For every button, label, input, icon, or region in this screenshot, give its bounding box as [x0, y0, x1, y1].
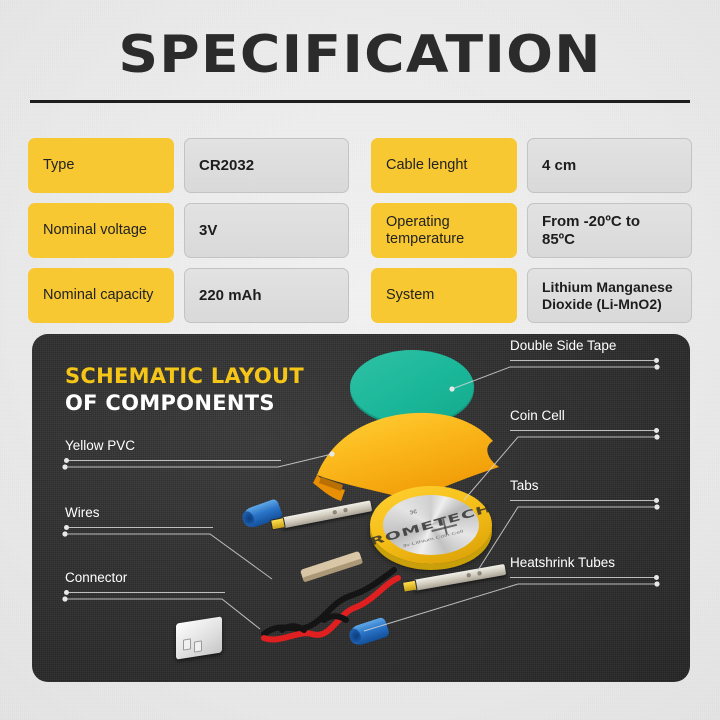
title-divider: [30, 100, 690, 103]
spec-column-right: Cable lenght 4 cm Operating temperature …: [371, 138, 692, 323]
specification-table: Type CR2032 Nominal voltage 3V Nominal c…: [28, 138, 692, 323]
spec-value-system: Lithium Manganese Dioxide (Li-MnO2): [527, 268, 692, 323]
callout-rule: [510, 577, 658, 578]
callout-rule: [65, 527, 213, 528]
page-title: SPECIFICATION: [0, 26, 720, 84]
spec-key-system: System: [371, 268, 517, 323]
spec-value-cable-length: 4 cm: [527, 138, 692, 193]
spec-key-operating-temperature: Operating temperature: [371, 203, 517, 258]
spec-value-nominal-capacity: 220 mAh: [184, 268, 349, 323]
spec-row-nominal-capacity: Nominal capacity 220 mAh: [28, 268, 349, 323]
callout-rule: [510, 500, 658, 501]
spec-row-operating-temperature: Operating temperature From -20ºC to 85ºC: [371, 203, 692, 258]
callout-heatshrink-tubes: Heatshrink Tubes: [510, 555, 658, 578]
spec-key-type: Type: [28, 138, 174, 193]
spec-value-type: CR2032: [184, 138, 349, 193]
leader-double-side-tape: [452, 367, 657, 389]
spec-row-nominal-voltage: Nominal voltage 3V: [28, 203, 349, 258]
callout-label: Tabs: [510, 478, 658, 494]
callout-rule: [65, 592, 225, 593]
callout-label: Wires: [65, 505, 213, 521]
spec-column-left: Type CR2032 Nominal voltage 3V Nominal c…: [28, 138, 349, 323]
callout-connector: Connector: [65, 570, 225, 593]
callout-label: Coin Cell: [510, 408, 658, 424]
callout-label: Connector: [65, 570, 225, 586]
spec-row-cable-length: Cable lenght 4 cm: [371, 138, 692, 193]
leader-connector: [65, 599, 260, 629]
callout-rule: [65, 460, 281, 461]
callout-label: Heatshrink Tubes: [510, 555, 658, 571]
schematic-panel: SCHEMATIC LAYOUT OF COMPONENTS: [32, 334, 690, 682]
specification-page: SPECIFICATION Type CR2032 Nominal voltag…: [0, 0, 720, 720]
spec-value-operating-temperature: From -20ºC to 85ºC: [527, 203, 692, 258]
callout-double-side-tape: Double Side Tape: [510, 338, 658, 361]
spec-key-cable-length: Cable lenght: [371, 138, 517, 193]
spec-value-nominal-voltage: 3V: [184, 203, 349, 258]
spec-row-type: Type CR2032: [28, 138, 349, 193]
leader-heatshrink-tubes: [364, 584, 657, 631]
callout-rule: [510, 360, 658, 361]
schematic-title: SCHEMATIC LAYOUT OF COMPONENTS: [65, 363, 304, 417]
callout-yellow-pvc: Yellow PVC: [65, 438, 281, 461]
callout-rule: [510, 430, 658, 431]
spec-key-nominal-capacity: Nominal capacity: [28, 268, 174, 323]
schematic-title-line2: OF COMPONENTS: [65, 390, 304, 417]
callout-wires: Wires: [65, 505, 213, 528]
spec-row-system: System Lithium Manganese Dioxide (Li-MnO…: [371, 268, 692, 323]
schematic-title-line1: SCHEMATIC LAYOUT: [65, 363, 304, 390]
callout-label: Yellow PVC: [65, 438, 281, 454]
callout-tabs: Tabs: [510, 478, 658, 501]
callout-label: Double Side Tape: [510, 338, 658, 354]
callout-coin-cell: Coin Cell: [510, 408, 658, 431]
spec-key-nominal-voltage: Nominal voltage: [28, 203, 174, 258]
